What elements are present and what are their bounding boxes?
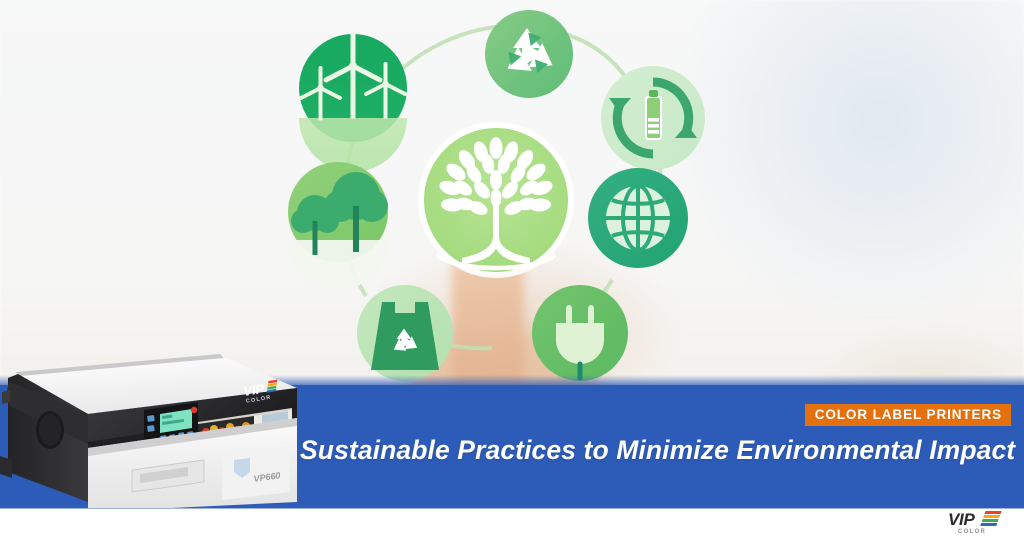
globe-icon bbox=[606, 186, 670, 250]
vipcolor-logo-subtext: COLOR bbox=[958, 529, 986, 535]
headline-text: Sustainable Practices to Minimize Enviro… bbox=[300, 435, 1012, 466]
node-trees bbox=[288, 162, 388, 290]
promotional-banner-image: COLOR LABEL PRINTERS Sustainable Practic… bbox=[0, 0, 1024, 538]
vipcolor-logo: VIP COLOR bbox=[948, 510, 1010, 536]
node-globe bbox=[588, 168, 688, 268]
vipcolor-logo-wordmark: VIP bbox=[948, 510, 975, 529]
eco-sustainability-graphic bbox=[260, 0, 730, 400]
node-recycle-bag bbox=[357, 285, 453, 381]
center-tree-node bbox=[418, 122, 574, 278]
battery-icon bbox=[645, 90, 662, 140]
footer-strip bbox=[0, 508, 1024, 538]
printer-photo: VIP COLOR VP660 bbox=[0, 352, 312, 512]
node-recycle bbox=[485, 10, 573, 98]
node-power-plug bbox=[532, 285, 628, 381]
node-battery-recycle bbox=[601, 66, 705, 170]
vipcolor-logo-swatches bbox=[980, 511, 1001, 526]
node-wind-turbine bbox=[299, 34, 407, 172]
category-badge: COLOR LABEL PRINTERS bbox=[805, 404, 1011, 426]
banner-text-block: COLOR LABEL PRINTERS Sustainable Practic… bbox=[300, 404, 1012, 466]
